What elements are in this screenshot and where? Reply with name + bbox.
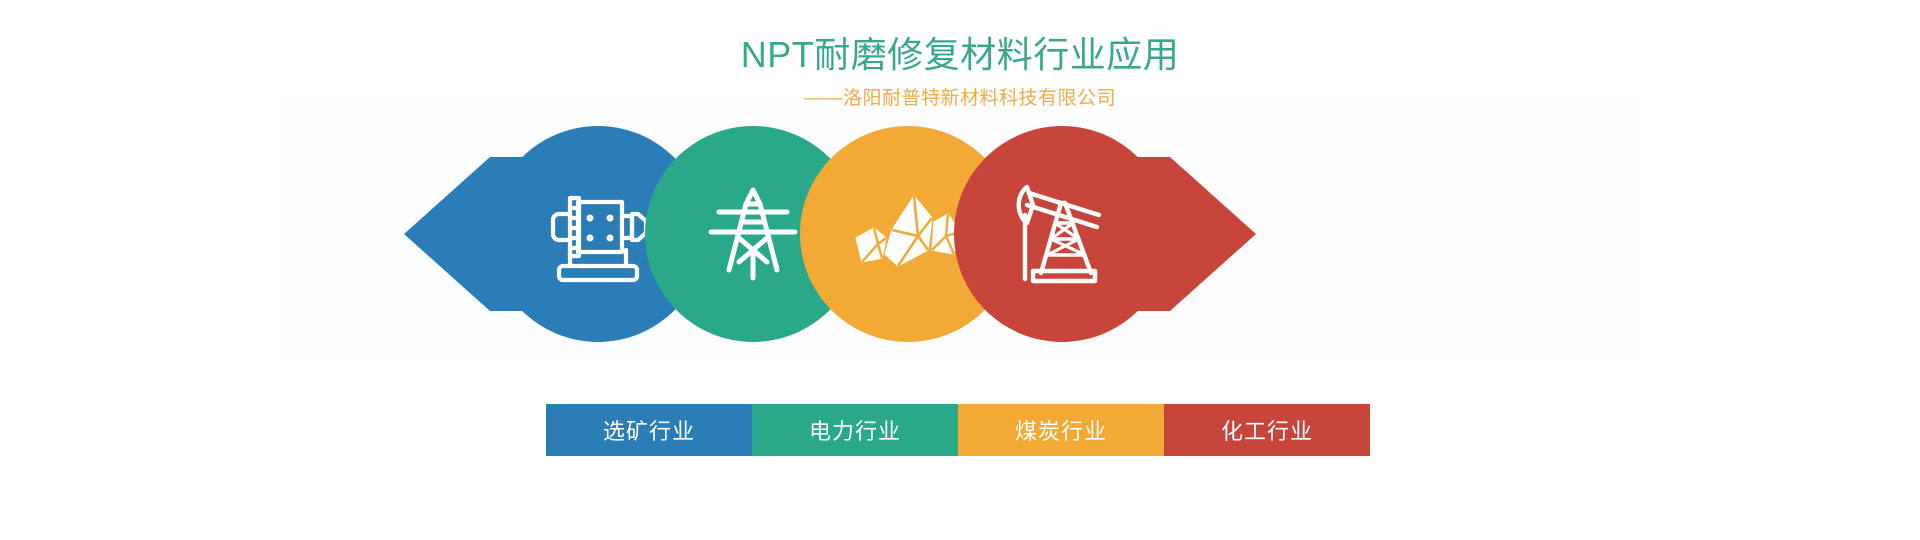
company-subtitle: ——洛阳耐普特新材料科技有限公司 [0, 86, 1920, 112]
industry-label-chemical[interactable]: 化工行业 [1164, 404, 1370, 456]
industry-lobe-chemical[interactable] [954, 126, 1170, 342]
industry-label-bar: 选矿行业 电力行业 煤炭行业 化工行业 [546, 404, 1370, 456]
industry-label-coal[interactable]: 煤炭行业 [958, 404, 1164, 456]
page-title: NPT耐磨修复材料行业应用 [0, 32, 1920, 78]
left-point-cap [404, 157, 490, 311]
right-point-cap [1170, 157, 1256, 311]
header: NPT耐磨修复材料行业应用 ——洛阳耐普特新材料科技有限公司 [0, 32, 1920, 112]
industry-label-mineral-processing[interactable]: 选矿行业 [546, 404, 752, 456]
industry-label-power[interactable]: 电力行业 [752, 404, 958, 456]
banner-canvas: NPT耐磨修复材料行业应用 ——洛阳耐普特新材料科技有限公司 [0, 0, 1920, 540]
industry-lobes [490, 126, 1170, 342]
oil-pumpjack-icon [954, 126, 1170, 342]
